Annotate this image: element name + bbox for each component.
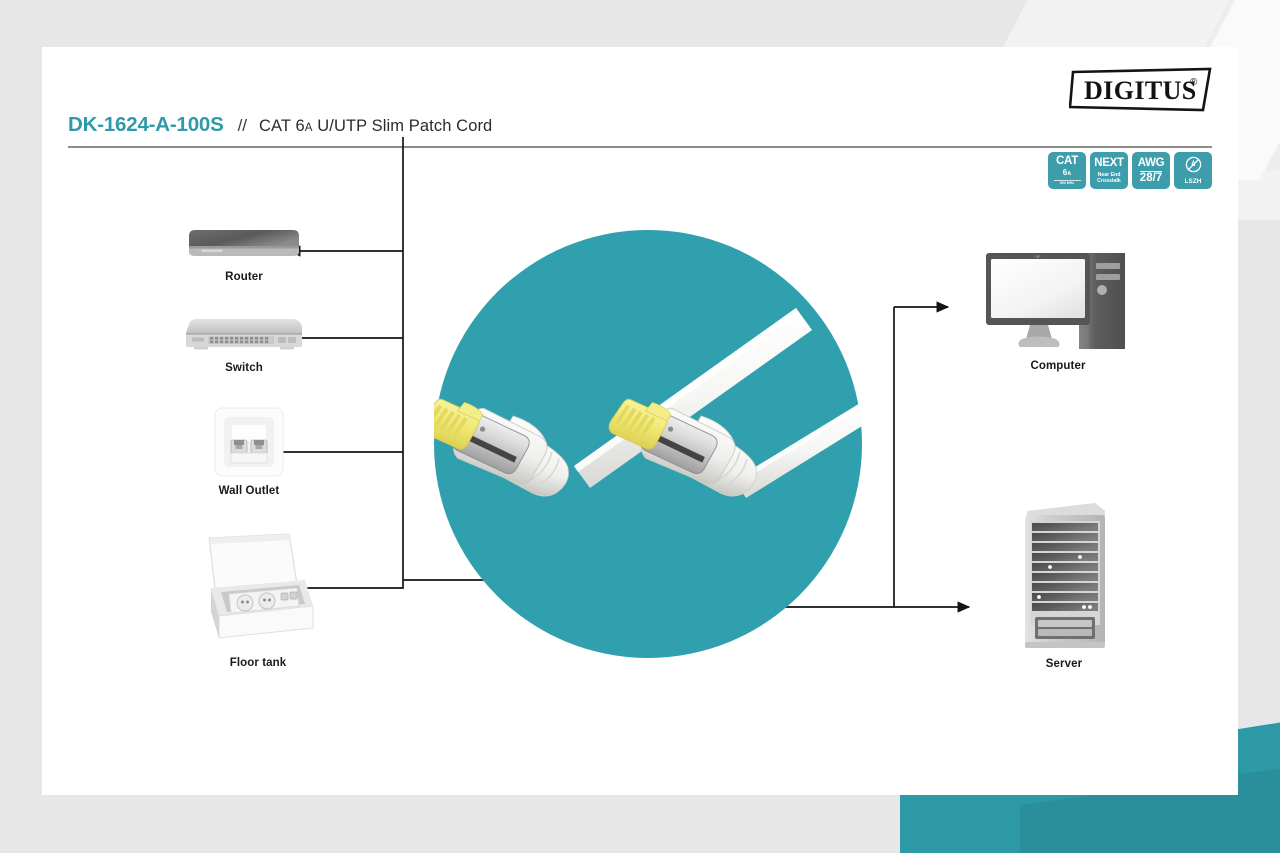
floor-tank-icon — [193, 532, 323, 650]
device-switch: Switch — [146, 313, 342, 374]
application-diagram: Router — [42, 47, 1238, 795]
floor-tank-label: Floor tank — [230, 657, 287, 669]
device-server: Server — [988, 499, 1140, 670]
wall-outlet-label: Wall Outlet — [219, 485, 280, 497]
server-icon — [1017, 499, 1111, 651]
computer-label: Computer — [1030, 360, 1085, 372]
switch-label: Switch — [225, 362, 263, 374]
device-computer: Computer — [958, 245, 1158, 372]
wall-outlet-icon — [213, 406, 285, 478]
product-hero-image — [434, 230, 862, 658]
computer-icon — [980, 245, 1136, 353]
device-wall-outlet: Wall Outlet — [160, 406, 338, 497]
switch-icon — [182, 313, 306, 355]
device-router: Router — [146, 224, 342, 283]
router-label: Router — [225, 271, 263, 283]
content-card: DIGITUS ® DK-1624-A-100S // CAT 6A U/UTP… — [42, 47, 1238, 795]
server-label: Server — [1046, 658, 1082, 670]
router-icon — [185, 224, 303, 264]
device-floor-tank: Floor tank — [146, 532, 370, 669]
